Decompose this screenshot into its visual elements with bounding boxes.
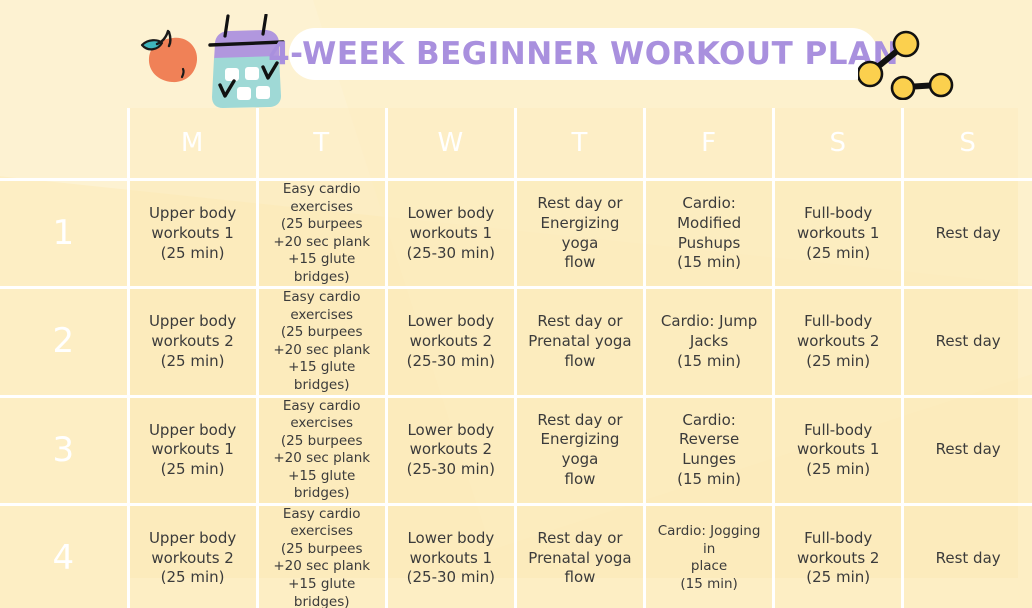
day-header-monday: M (128, 108, 257, 180)
cell-week3-monday: Upper body workouts 1 (25 min) (128, 396, 257, 504)
cell-week2-wednesday: Lower body workouts 2 (25-30 min) (386, 288, 515, 396)
cell-text: Upper body workouts 1 (25 min) (130, 421, 256, 480)
day-header-sunday: S (903, 108, 1032, 180)
cell-week2-monday: Upper body workouts 2 (25 min) (128, 288, 257, 396)
cell-text: Easy cardio exercises (25 burpees +20 se… (259, 506, 385, 608)
cell-text: Lower body workouts 2 (25-30 min) (388, 312, 514, 371)
table-row: 4 Upper body workouts 2 (25 min) Easy ca… (0, 504, 1032, 608)
cell-text: Easy cardio exercises (25 burpees +20 se… (259, 398, 385, 503)
cell-week1-thursday: Rest day or Energizing yoga flow (515, 180, 644, 288)
corner-cell (0, 108, 128, 180)
cell-text: Easy cardio exercises (25 burpees +20 se… (259, 181, 385, 286)
week-number: 3 (0, 396, 128, 504)
week-number: 4 (0, 504, 128, 608)
cell-week2-thursday: Rest day or Prenatal yoga flow (515, 288, 644, 396)
table-row: 2 Upper body workouts 2 (25 min) Easy ca… (0, 288, 1032, 396)
cell-week1-monday: Upper body workouts 1 (25 min) (128, 180, 257, 288)
cell-week1-wednesday: Lower body workouts 1 (25-30 min) (386, 180, 515, 288)
cell-text: Rest day (904, 224, 1032, 244)
poster-header: 4-WEEK BEGINNER WORKOUT PLAN (0, 0, 1032, 110)
cell-text: Rest day or Energizing yoga flow (517, 411, 643, 490)
cell-week3-sunday: Rest day (903, 396, 1032, 504)
cell-week1-sunday: Rest day (903, 180, 1032, 288)
workout-plan-poster: 4-WEEK BEGINNER WORKOUT PLAN (0, 0, 1032, 608)
cell-text: Cardio: Jogging in place (15 min) (646, 523, 772, 593)
cell-week2-friday: Cardio: Jump Jacks (15 min) (645, 288, 774, 396)
cell-text: Rest day (904, 549, 1032, 569)
cell-week2-tuesday: Easy cardio exercises (25 burpees +20 se… (257, 288, 386, 396)
table-row: 3 Upper body workouts 1 (25 min) Easy ca… (0, 396, 1032, 504)
cell-text: Rest day (904, 440, 1032, 460)
cell-week4-tuesday: Easy cardio exercises (25 burpees +20 se… (257, 504, 386, 608)
title-pill: 4-WEEK BEGINNER WORKOUT PLAN (289, 28, 878, 80)
cell-week3-thursday: Rest day or Energizing yoga flow (515, 396, 644, 504)
day-header-thursday: T (515, 108, 644, 180)
cell-week1-friday: Cardio: Modified Pushups (15 min) (645, 180, 774, 288)
week-number: 2 (0, 288, 128, 396)
workout-plan-table: M T W T F S S 1 Upper body workouts 1 (2… (0, 108, 1032, 608)
cell-week4-thursday: Rest day or Prenatal yoga flow (515, 504, 644, 608)
cell-text: Full-body workouts 1 (25 min) (775, 204, 901, 263)
dumbbell-icon (858, 28, 954, 100)
cell-text: Rest day or Prenatal yoga flow (517, 529, 643, 588)
cell-text: Upper body workouts 2 (25 min) (130, 312, 256, 371)
cell-text: Easy cardio exercises (25 burpees +20 se… (259, 289, 385, 394)
cell-text: Lower body workouts 1 (25-30 min) (388, 529, 514, 588)
cell-week1-tuesday: Easy cardio exercises (25 burpees +20 se… (257, 180, 386, 288)
day-header-saturday: S (774, 108, 903, 180)
cell-text: Full-body workouts 1 (25 min) (775, 421, 901, 480)
table-header-row: M T W T F S S (0, 108, 1032, 180)
cell-week3-tuesday: Easy cardio exercises (25 burpees +20 se… (257, 396, 386, 504)
cell-week4-friday: Cardio: Jogging in place (15 min) (645, 504, 774, 608)
plan-table-container: M T W T F S S 1 Upper body workouts 1 (2… (0, 108, 1032, 580)
cell-text: Full-body workouts 2 (25 min) (775, 529, 901, 588)
cell-week4-saturday: Full-body workouts 2 (25 min) (774, 504, 903, 608)
day-header-tuesday: T (257, 108, 386, 180)
week-number: 1 (0, 180, 128, 288)
cell-week4-monday: Upper body workouts 2 (25 min) (128, 504, 257, 608)
cell-text: Rest day or Energizing yoga flow (517, 194, 643, 273)
cell-text: Cardio: Modified Pushups (15 min) (646, 194, 772, 273)
cell-text: Cardio: Jump Jacks (15 min) (646, 312, 772, 371)
cell-week4-wednesday: Lower body workouts 1 (25-30 min) (386, 504, 515, 608)
cell-week1-saturday: Full-body workouts 1 (25 min) (774, 180, 903, 288)
cell-text: Upper body workouts 2 (25 min) (130, 529, 256, 588)
cell-text: Upper body workouts 1 (25 min) (130, 204, 256, 263)
cell-text: Full-body workouts 2 (25 min) (775, 312, 901, 371)
cell-week2-sunday: Rest day (903, 288, 1032, 396)
page-title: 4-WEEK BEGINNER WORKOUT PLAN (268, 36, 899, 72)
cell-text: Rest day (904, 332, 1032, 352)
table-row: 1 Upper body workouts 1 (25 min) Easy ca… (0, 180, 1032, 288)
cell-week2-saturday: Full-body workouts 2 (25 min) (774, 288, 903, 396)
day-header-friday: F (645, 108, 774, 180)
cell-text: Cardio: Reverse Lunges (15 min) (646, 411, 772, 490)
cell-text: Lower body workouts 2 (25-30 min) (388, 421, 514, 480)
day-header-wednesday: W (386, 108, 515, 180)
cell-week4-sunday: Rest day (903, 504, 1032, 608)
cell-text: Lower body workouts 1 (25-30 min) (388, 204, 514, 263)
cell-text: Rest day or Prenatal yoga flow (517, 312, 643, 371)
cell-week3-friday: Cardio: Reverse Lunges (15 min) (645, 396, 774, 504)
cell-week3-saturday: Full-body workouts 1 (25 min) (774, 396, 903, 504)
cell-week3-wednesday: Lower body workouts 2 (25-30 min) (386, 396, 515, 504)
